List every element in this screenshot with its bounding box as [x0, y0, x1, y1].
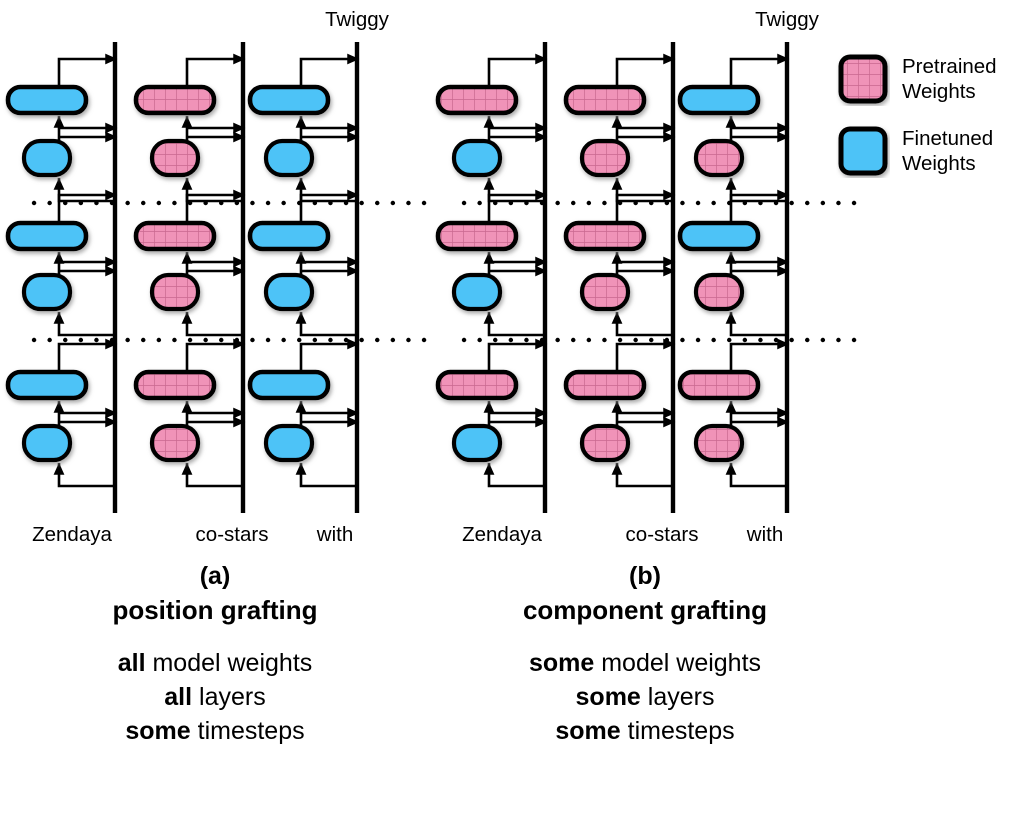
caption-bullets-a: all model weights all layers some timest…	[0, 646, 430, 748]
sequence-label-b: Twiggy	[717, 8, 857, 32]
caption-bullets-b: some model weights some layers some time…	[430, 646, 860, 748]
caption-letter: (b)	[430, 560, 860, 592]
caption-line-strong: some	[529, 649, 594, 677]
legend-item-pretrained: Pretrained Weights	[836, 52, 1024, 106]
caption-line-rest: layers	[641, 683, 715, 711]
caption-letter: (a)	[0, 560, 430, 592]
caption-line-rest: timesteps	[621, 717, 735, 745]
legend: Pretrained Weights Finetuned Weights	[836, 52, 1024, 196]
token-labels-b: Zendaya co-stars with	[430, 518, 860, 552]
caption-line: some timesteps	[430, 714, 860, 748]
caption-line-rest: model weights	[146, 649, 313, 677]
token-label: Zendaya	[2, 518, 142, 552]
pretrained-swatch-icon	[836, 52, 890, 106]
figure-canvas: Twiggy Zendaya co-stars with Twiggy Zend…	[0, 0, 1024, 817]
legend-label-pretrained: Pretrained Weights	[902, 52, 997, 104]
caption-line-strong: all	[164, 683, 192, 711]
sequence-label-a: Twiggy	[287, 8, 427, 32]
caption-line-rest: layers	[192, 683, 266, 711]
caption-a: (a) position grafting all model weights …	[0, 560, 430, 748]
panel-a-diagram	[0, 0, 430, 560]
legend-item-finetuned: Finetuned Weights	[836, 124, 1024, 178]
caption-line: all layers	[0, 680, 430, 714]
token-label: Zendaya	[432, 518, 572, 552]
caption-b: (b) component grafting some model weight…	[430, 560, 860, 748]
caption-line-strong: some	[125, 717, 190, 745]
token-labels-a: Zendaya co-stars with	[0, 518, 430, 552]
caption-line: some timesteps	[0, 714, 430, 748]
caption-line: all model weights	[0, 646, 430, 680]
caption-title: position grafting	[0, 592, 430, 628]
caption-line: some layers	[430, 680, 860, 714]
panel-position-grafting: Twiggy Zendaya co-stars with	[0, 0, 430, 560]
legend-label-finetuned: Finetuned Weights	[902, 124, 993, 176]
caption-line: some model weights	[430, 646, 860, 680]
caption-line-rest: model weights	[594, 649, 761, 677]
caption-line-strong: some	[555, 717, 620, 745]
legend-label-line2: Weights	[902, 79, 997, 104]
caption-line-rest: timesteps	[191, 717, 305, 745]
legend-label-line2: Weights	[902, 151, 993, 176]
caption-title: component grafting	[430, 592, 860, 628]
panel-b-diagram	[430, 0, 860, 560]
token-label: with	[265, 518, 405, 552]
caption-line-strong: all	[118, 649, 146, 677]
caption-line-strong: some	[576, 683, 641, 711]
panel-component-grafting: Twiggy Zendaya co-stars with	[430, 0, 860, 560]
legend-label-line1: Finetuned	[902, 126, 993, 151]
legend-label-line1: Pretrained	[902, 54, 997, 79]
token-label: with	[695, 518, 835, 552]
finetuned-swatch-icon	[836, 124, 890, 178]
